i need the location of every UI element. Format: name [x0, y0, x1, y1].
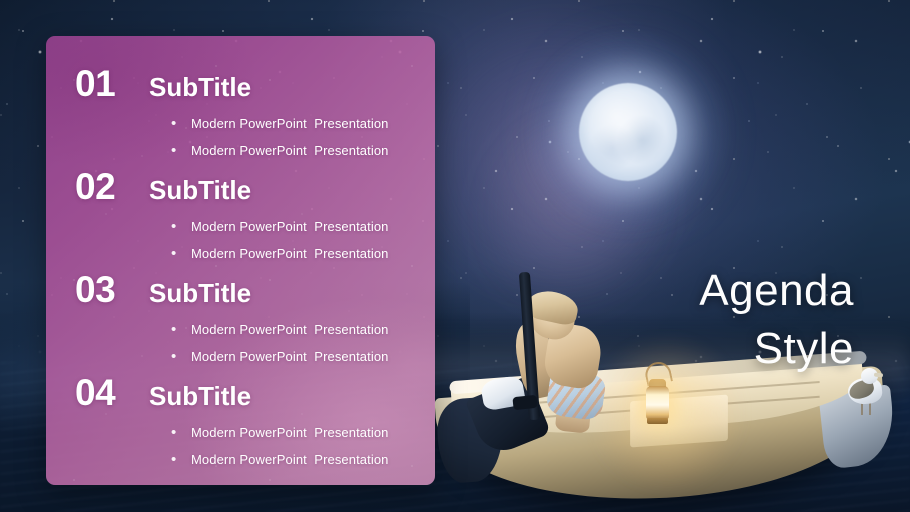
list-item: • Modern PowerPoint Presentation — [46, 422, 435, 444]
agenda-item-03-head: 03 SubTitle — [46, 270, 435, 310]
bullet-icon: • — [171, 117, 191, 131]
seagull-beak — [874, 373, 883, 378]
agenda-item-03-bullets: • Modern PowerPoint Presentation • Moder… — [46, 319, 435, 368]
agenda-item-04-head: 04 SubTitle — [46, 373, 435, 413]
presentation-slide: Agenda Style 01 SubTitle • Modern PowerP… — [0, 0, 910, 512]
bullet-text: Modern PowerPoint Presentation — [191, 322, 388, 338]
oar-grip — [512, 395, 537, 410]
agenda-card: 01 SubTitle • Modern PowerPoint Presenta… — [46, 36, 435, 485]
list-item: • Modern PowerPoint Presentation — [46, 319, 435, 341]
agenda-item-04-number: 04 — [75, 373, 149, 413]
bullet-icon: • — [171, 350, 191, 364]
bullet-text: Modern PowerPoint Presentation — [191, 219, 388, 235]
lantern-icon — [646, 386, 669, 420]
lantern-base — [647, 418, 668, 424]
bullet-icon: • — [171, 453, 191, 467]
bullet-icon: • — [171, 426, 191, 440]
agenda-item-02-title: SubTitle — [149, 175, 251, 205]
bullet-text: Modern PowerPoint Presentation — [191, 349, 388, 365]
list-item: • Modern PowerPoint Presentation — [46, 140, 435, 162]
agenda-item-04-title: SubTitle — [149, 381, 251, 411]
list-item: • Modern PowerPoint Presentation — [46, 243, 435, 265]
slide-title: Agenda Style — [560, 262, 854, 378]
list-item: • Modern PowerPoint Presentation — [46, 113, 435, 135]
agenda-item-03[interactable]: 03 SubTitle • Modern PowerPoint Presenta… — [46, 270, 435, 368]
bullet-text: Modern PowerPoint Presentation — [191, 452, 388, 468]
bullet-icon: • — [171, 323, 191, 337]
bullet-text: Modern PowerPoint Presentation — [191, 425, 388, 441]
agenda-item-02-bullets: • Modern PowerPoint Presentation • Moder… — [46, 216, 435, 265]
agenda-item-02[interactable]: 02 SubTitle • Modern PowerPoint Presenta… — [46, 167, 435, 265]
list-item: • Modern PowerPoint Presentation — [46, 346, 435, 368]
seagull-leg-right — [869, 402, 871, 415]
agenda-item-03-number: 03 — [75, 270, 149, 310]
bullet-icon: • — [171, 247, 191, 261]
agenda-item-02-head: 02 SubTitle — [46, 167, 435, 207]
agenda-item-04-bullets: • Modern PowerPoint Presentation • Moder… — [46, 422, 435, 471]
bullet-icon: • — [171, 220, 191, 234]
list-item: • Modern PowerPoint Presentation — [46, 449, 435, 471]
bullet-text: Modern PowerPoint Presentation — [191, 143, 388, 159]
agenda-item-01-title: SubTitle — [149, 72, 251, 102]
slide-title-line-1: Agenda — [560, 262, 854, 320]
bullet-text: Modern PowerPoint Presentation — [191, 246, 388, 262]
agenda-item-01-head: 01 SubTitle — [46, 64, 435, 104]
bullet-icon: • — [171, 144, 191, 158]
bullet-text: Modern PowerPoint Presentation — [191, 116, 388, 132]
agenda-item-03-title: SubTitle — [149, 278, 251, 308]
list-item: • Modern PowerPoint Presentation — [46, 216, 435, 238]
agenda-item-04[interactable]: 04 SubTitle • Modern PowerPoint Presenta… — [46, 373, 435, 471]
agenda-item-02-number: 02 — [75, 167, 149, 207]
slide-title-line-2: Style — [560, 320, 854, 378]
agenda-item-01-bullets: • Modern PowerPoint Presentation • Moder… — [46, 113, 435, 162]
agenda-item-01-number: 01 — [75, 64, 149, 104]
agenda-item-01[interactable]: 01 SubTitle • Modern PowerPoint Presenta… — [46, 64, 435, 162]
agenda-list: 01 SubTitle • Modern PowerPoint Presenta… — [46, 36, 435, 485]
